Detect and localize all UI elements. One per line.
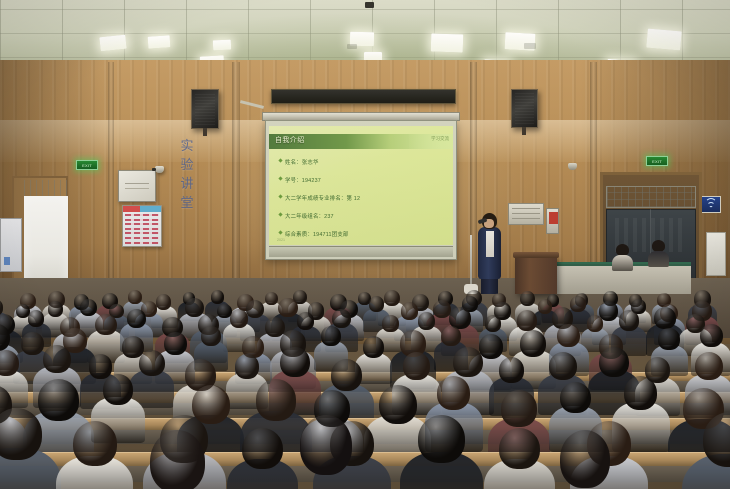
presenter-shirt [486, 231, 494, 257]
wall-vent-panel [508, 203, 544, 225]
audience-head [28, 310, 44, 326]
audience-head [619, 310, 639, 331]
wall-calligraphy: 实 验 讲 堂 [178, 140, 196, 210]
audience-head [517, 310, 537, 331]
ceiling-light [213, 40, 231, 51]
slide-bullet-text: 综合素质：194711团支部 [285, 230, 349, 238]
audience-head [384, 290, 400, 306]
audience-head [89, 354, 113, 378]
audience-head [300, 415, 352, 475]
slide-bullet: 综合素质：194711团支部 [279, 230, 445, 238]
audience-head [441, 326, 461, 346]
slide-bullet-text: 大二年级组名：237 [285, 212, 334, 220]
wall-banner-text [272, 90, 455, 103]
audience-head [599, 301, 618, 321]
audience-head [538, 299, 552, 314]
audience-head [587, 315, 603, 331]
bullet-marker-icon [278, 158, 282, 162]
ceiling-sensor-icon [347, 44, 357, 49]
bullet-marker-icon [278, 176, 282, 180]
lectern [515, 256, 557, 294]
audience-head [150, 430, 205, 489]
audience-head [185, 298, 204, 318]
audience-head [382, 315, 398, 331]
lectern-top [513, 252, 559, 258]
audience-head [164, 332, 187, 355]
slide-bullet: 大二年级组名：237 [279, 212, 445, 220]
audience-head [369, 296, 385, 312]
slide-surface: 自我介绍 学习交流 姓名：张志华学号：194237大二学年成绩专业排名：第 12… [269, 126, 453, 245]
ceiling-light [431, 33, 464, 52]
audience-head [403, 352, 431, 380]
audience-head [700, 324, 723, 347]
ceiling-light [99, 35, 126, 52]
slide-bullet-text: 学号：194237 [285, 176, 321, 184]
slide-bullet-text: 姓名：张志华 [285, 158, 319, 166]
security-camera-icon-left [155, 166, 164, 173]
audience-head [557, 324, 580, 347]
exit-sign-label: EXIT [652, 159, 662, 164]
ceiling-projector-icon [365, 2, 374, 8]
audience-head [695, 352, 723, 380]
audience-head [278, 298, 297, 318]
panelist-torso [648, 251, 669, 267]
audience-head [230, 309, 249, 328]
audience-head [139, 350, 165, 376]
ceiling-sensor-icon [524, 43, 536, 49]
wall-speaker-right [511, 89, 538, 128]
audience-head [21, 332, 44, 355]
bullet-marker-icon [278, 212, 282, 216]
wifi-icon [705, 200, 717, 209]
audience-head [38, 379, 79, 420]
exit-sign-left: EXIT [76, 160, 98, 170]
bullet-marker-icon [278, 230, 282, 234]
audience-head [127, 309, 146, 328]
projection-screen: 自我介绍 学习交流 姓名：张志华学号：194237大二学年成绩专业排名：第 12… [265, 120, 457, 260]
wall-column [108, 62, 114, 292]
audience-head [479, 334, 503, 359]
poster-header [123, 206, 161, 212]
audience-head [658, 328, 679, 350]
screen-bottom-bar [269, 246, 453, 257]
audience-head [624, 376, 657, 410]
audience-head [485, 315, 501, 331]
audience-head [122, 336, 143, 358]
calligraphy-char: 实 [180, 140, 193, 153]
door-left-transom [24, 180, 68, 196]
slide-footer: 2021 [277, 238, 285, 242]
audience-head [103, 374, 134, 405]
audience-head [570, 296, 586, 312]
wall-column [590, 62, 597, 292]
audience-head [201, 326, 221, 346]
wall-notice-board-left [0, 218, 22, 272]
lecture-hall-photo: 实 验 讲 堂 自我介绍 学习交流 姓名：张志华学号：194237大二学年成绩专… [0, 0, 730, 489]
audience-head [192, 385, 230, 424]
calligraphy-char: 堂 [180, 197, 193, 210]
wifi-sign [700, 196, 721, 213]
audience-head [256, 379, 297, 420]
audience-head [280, 347, 310, 377]
av-control-panel[interactable] [118, 170, 156, 202]
audience-head [321, 326, 341, 346]
slide-bullet-list: 姓名：张志华学号：194237大二学年成绩专业排名：第 12大二年级组名：237… [279, 158, 445, 245]
audience-head [48, 301, 64, 317]
audience-head [73, 421, 117, 466]
poster-rows [125, 214, 159, 247]
wall-column [232, 62, 240, 292]
security-camera-icon-right [568, 163, 577, 170]
audience-head [331, 359, 363, 391]
audience-head [418, 312, 435, 330]
audience-head [242, 428, 283, 470]
audience-head [156, 294, 171, 309]
audience-head [0, 350, 19, 376]
speaker-mount-left [203, 128, 207, 136]
wall-panel-right [706, 232, 726, 276]
exit-sign-label: EXIT [82, 163, 92, 168]
audience-head [265, 292, 278, 305]
audience-head [0, 408, 42, 460]
slide-bullet: 大二学年成绩专业排名：第 12 [279, 194, 445, 202]
audience-head [297, 312, 314, 330]
audience-head [95, 314, 116, 336]
ceiling-light [148, 35, 171, 49]
audience-head [43, 345, 71, 373]
slide-title: 自我介绍 [275, 135, 305, 145]
schedule-poster [122, 205, 162, 247]
bullet-marker-icon [278, 194, 282, 198]
audience-head [453, 347, 483, 377]
audience-head [437, 376, 470, 410]
panelist-torso [612, 255, 633, 271]
audience-head [235, 354, 259, 378]
audience-head [433, 300, 451, 318]
audience-head [418, 415, 466, 463]
speaker-mount-right [522, 127, 526, 135]
fire-extinguisher-cabinet [546, 208, 559, 234]
audience-head [560, 430, 610, 488]
audience-head [520, 330, 546, 357]
exit-sign-right: EXIT [646, 156, 668, 166]
calligraphy-char: 讲 [180, 178, 193, 191]
door-right-transom [606, 186, 696, 208]
wall-speaker-left [191, 89, 219, 129]
audience-head [560, 382, 591, 413]
audience-head [520, 291, 535, 306]
audience-head [654, 307, 675, 329]
audience-head [499, 428, 540, 470]
audience-head [499, 357, 525, 383]
audience-head [80, 299, 97, 316]
audience-head [549, 352, 577, 380]
audience-head [599, 347, 629, 377]
audience-head [401, 302, 418, 319]
audience-head [379, 385, 417, 424]
audience-head [501, 390, 537, 426]
wall-banner [271, 89, 456, 104]
audience-head [332, 309, 351, 328]
calligraphy-char: 验 [180, 159, 193, 172]
ceiling-light [646, 29, 682, 51]
slide-bullet: 姓名：张志华 [279, 158, 445, 166]
slide-badge: 学习交流 [431, 136, 449, 142]
audience-head [246, 300, 264, 318]
slide-bullet-text: 大二学年成绩专业排名：第 12 [285, 194, 360, 202]
slide-bullet: 学号：194237 [279, 176, 445, 184]
audience-head [363, 336, 384, 358]
